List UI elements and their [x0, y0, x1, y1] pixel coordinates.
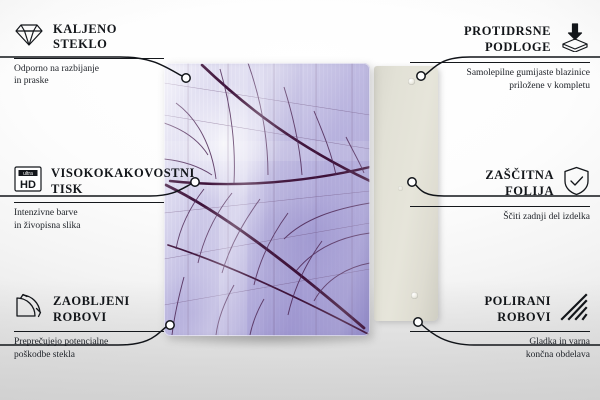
feature-callout-visokokakovostni-tisk: ultra HD VISOKOKAKOVOSTNITISK Intenzivne… — [14, 166, 164, 233]
divider — [14, 58, 164, 59]
pad-arrow-icon — [560, 22, 590, 57]
feature-title: POLIRANIROBOVI — [484, 294, 551, 325]
feature-subtitle: Samolepilne gumijaste blazinice priložen… — [410, 67, 590, 93]
feature-callout-polirani-robovi: POLIRANIROBOVI Gladka in varna končna ob… — [410, 293, 590, 362]
feature-title: KALJENOSTEKLO — [53, 22, 117, 53]
feature-title: ZAOBLJENIROBOVI — [53, 294, 130, 325]
feature-callout-kaljeno-steklo: KALJENOSTEKLO Odporno na razbijanje in p… — [14, 22, 164, 88]
divider — [410, 331, 590, 332]
ultra-hd-icon: ultra HD — [14, 166, 42, 197]
feature-subtitle: Gladka in varna končna obdelava — [410, 336, 590, 362]
feature-subtitle: Intenzivne barve in živopisna slika — [14, 207, 164, 233]
feature-title: ZAŠČITNAFOLIJA — [485, 168, 554, 199]
glass-panel — [164, 63, 370, 336]
feature-title: VISOKOKAKOVOSTNITISK — [51, 166, 195, 197]
feature-callout-zascitna-folija: ZAŠČITNAFOLIJA Ščiti zadnji del izdelka — [410, 166, 590, 224]
shield-check-icon — [563, 166, 590, 201]
feature-title: PROTIDRSNEPODLOGE — [464, 24, 551, 55]
feature-subtitle: Preprečujejo potencialne poškodbe stekla — [14, 336, 164, 362]
feature-callout-zaobljeni-robovi: ZAOBLJENIROBOVI Preprečujejo potencialne… — [14, 293, 164, 362]
diamond-icon — [14, 23, 44, 52]
feature-subtitle: Ščiti zadnji del izdelka — [410, 211, 590, 224]
feature-callout-protidrsne-podloge: PROTIDRSNEPODLOGE Samolepilne gumijaste … — [410, 22, 590, 93]
divider — [410, 62, 590, 63]
svg-text:HD: HD — [20, 179, 36, 191]
divider — [410, 206, 590, 207]
infographic-stage: KALJENOSTEKLO Odporno na razbijanje in p… — [0, 0, 600, 400]
leaf-artwork — [164, 63, 370, 336]
feature-subtitle: Odporno na razbijanje in praske — [14, 63, 164, 89]
svg-text:ultra: ultra — [23, 171, 33, 177]
rounded-corner-icon — [14, 293, 44, 326]
rubber-pad — [398, 186, 403, 191]
diagonal-lines-icon — [560, 293, 590, 326]
divider — [14, 331, 164, 332]
divider — [14, 202, 164, 203]
